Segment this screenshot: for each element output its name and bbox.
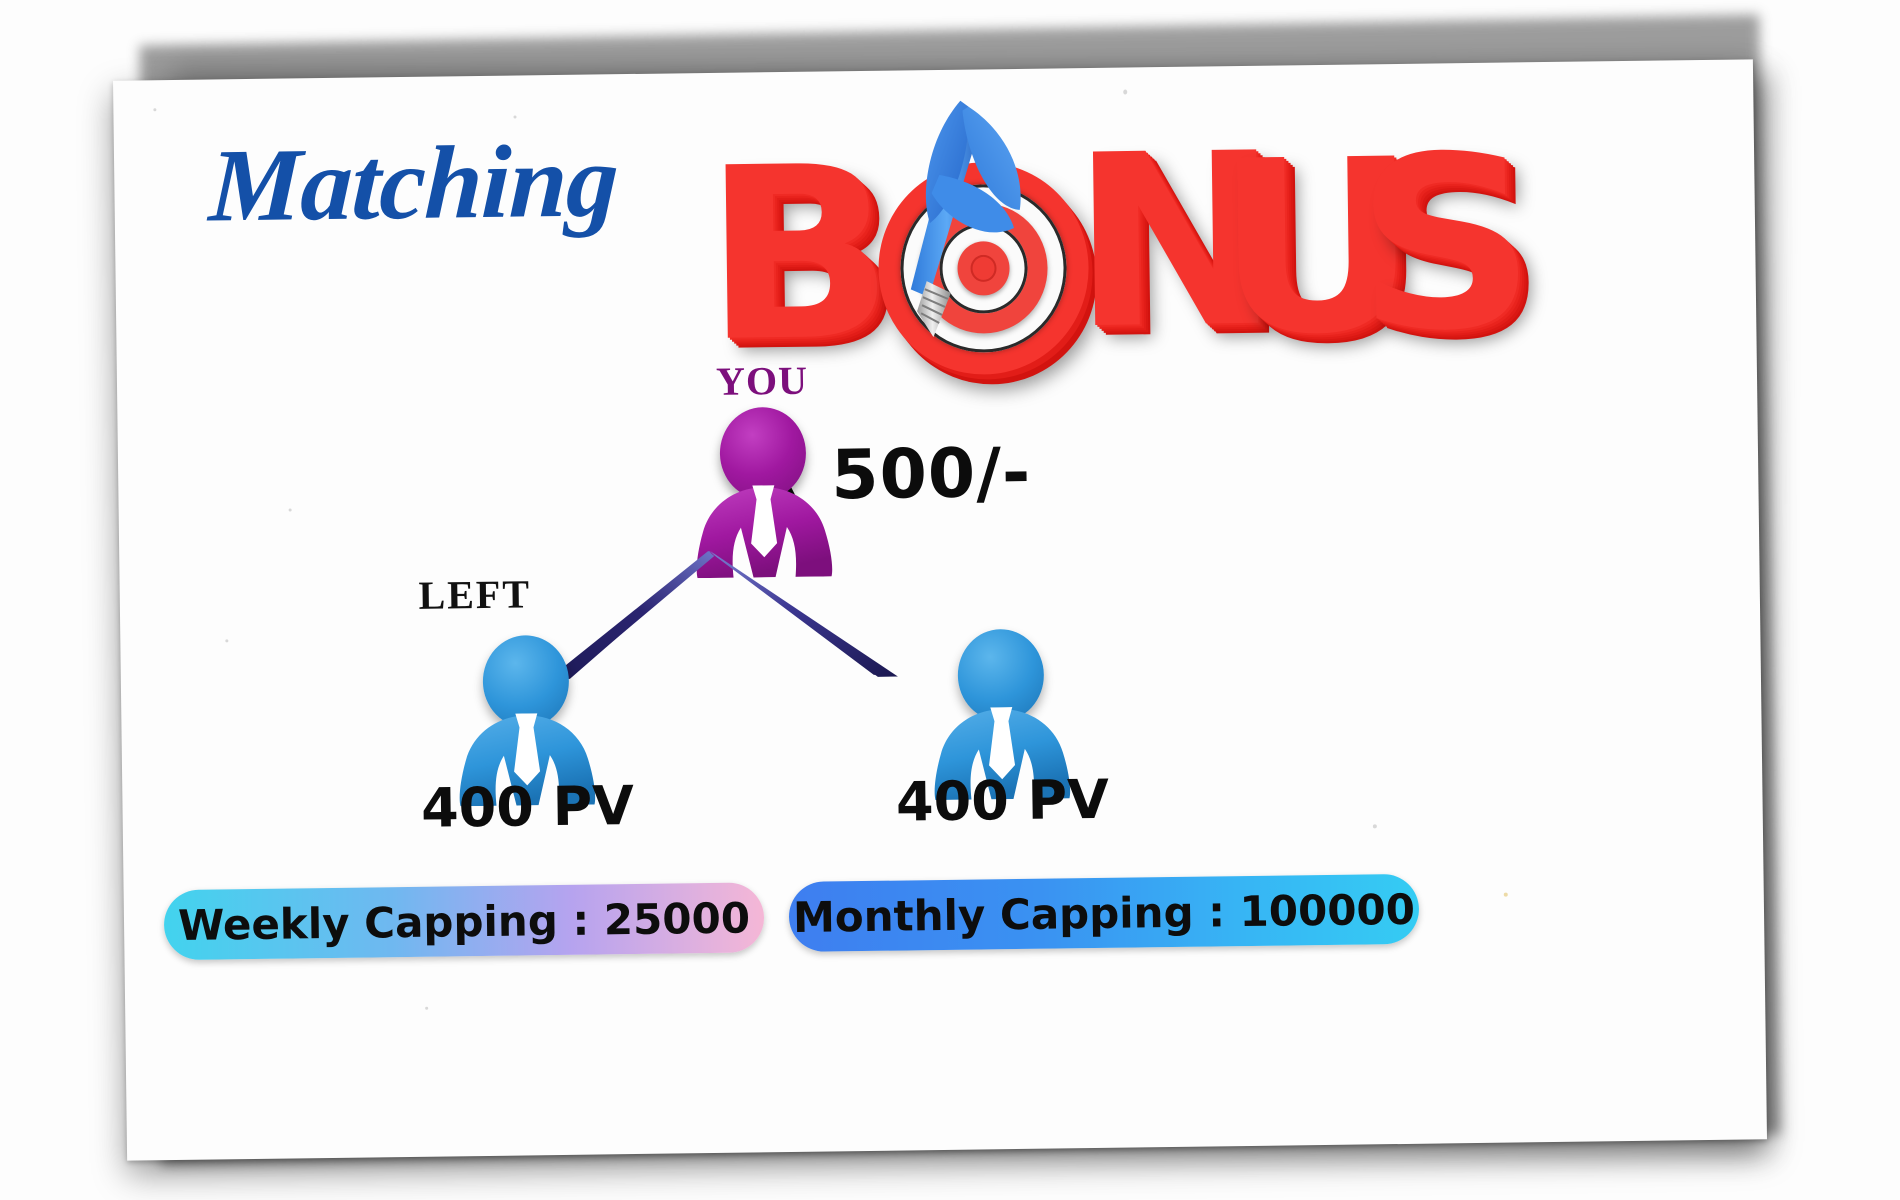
- poster-card: Matching B: [113, 59, 1767, 1160]
- weekly-capping-pill: Weekly Capping : 25000: [164, 882, 765, 960]
- paper-speck: [1504, 893, 1508, 897]
- pv-value-right: 400 PV: [852, 767, 1153, 834]
- poster-stage: Matching B: [0, 0, 1900, 1200]
- paper-speck: [289, 508, 292, 511]
- bonus-letter-b: B: [702, 136, 896, 376]
- pv-value-left: 400 PV: [377, 773, 678, 840]
- monthly-capping-pill: Monthly Capping : 100000: [789, 874, 1420, 952]
- bonus-letter-s: S: [1354, 125, 1537, 365]
- headline-matching: Matching: [207, 129, 619, 238]
- paper-speck: [225, 639, 228, 642]
- you-label: YOU: [687, 356, 838, 405]
- paper-speck: [513, 116, 516, 119]
- paper-speck: [153, 108, 156, 111]
- paper-speck: [1373, 824, 1377, 828]
- left-leg-label: LEFT: [374, 570, 575, 620]
- bonus-wordmark: B: [698, 98, 1442, 398]
- poster-card-inner: Matching B: [113, 59, 1767, 1160]
- target-bullseye-icon: [877, 161, 1090, 376]
- paper-speck: [425, 1007, 428, 1010]
- paper-speck: [1123, 90, 1127, 95]
